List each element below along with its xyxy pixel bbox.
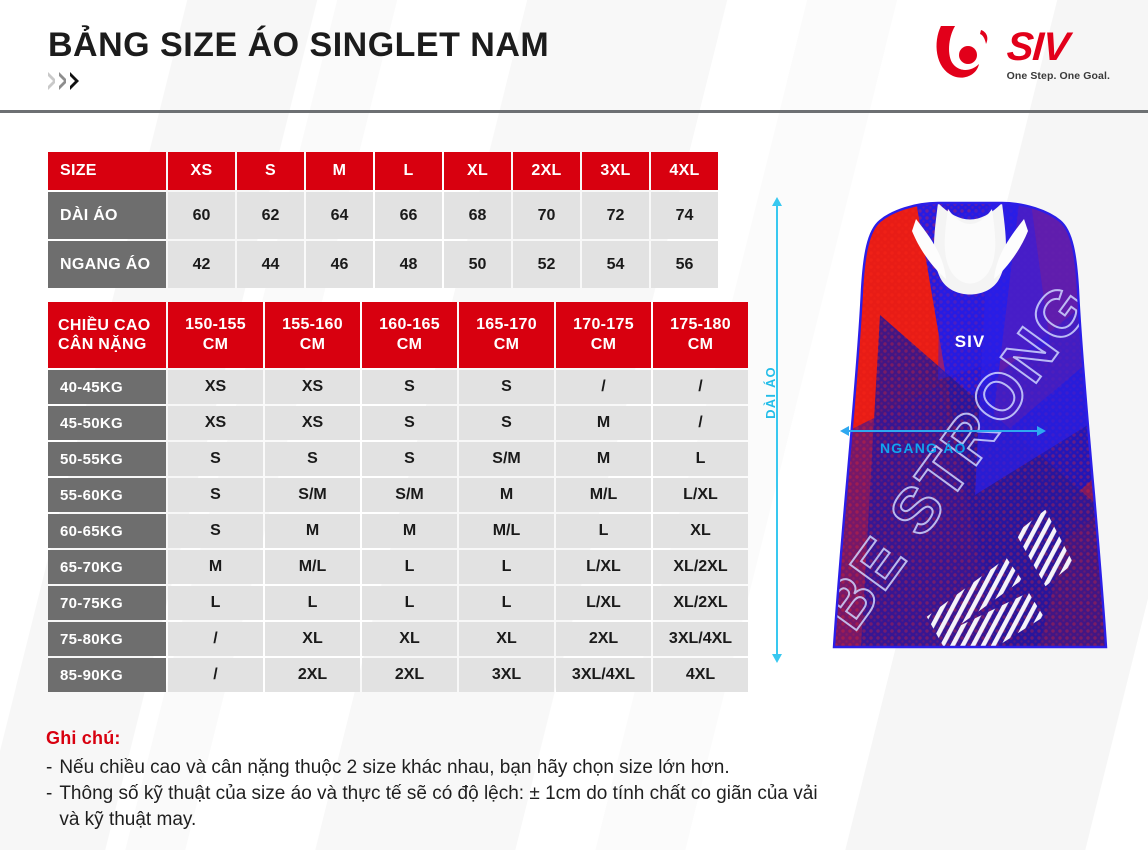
table-row: NGANG ÁO 42 44 46 48 50 52 54 56 xyxy=(48,241,718,288)
table2-header-175-180: 175-180 CM xyxy=(653,302,748,368)
table-row: 65-70KGMM/LLLL/XLXL/2XL xyxy=(48,550,748,584)
length-dimension-label: DÀI ÁO xyxy=(763,366,778,419)
cell: XL xyxy=(362,622,457,656)
table1-header-size: SIZE xyxy=(48,152,166,190)
shirt-illustration-area: DÀI ÁO xyxy=(760,185,1140,685)
table2-header-165-170: 165-170 CM xyxy=(459,302,554,368)
cell: / xyxy=(168,622,263,656)
shirt-chest-logo: SIV xyxy=(955,332,985,351)
table-row: 75-80KG/XLXLXL2XL3XL/4XL xyxy=(48,622,748,656)
row-label-55-60kg: 55-60KG xyxy=(48,478,166,512)
header-unit: CM xyxy=(168,335,263,355)
cell: / xyxy=(168,658,263,692)
notes-section: Ghi chú: - Nếu chiều cao và cân nặng thu… xyxy=(46,728,836,833)
cell: M/L xyxy=(556,478,651,512)
width-dimension-label: NGANG ÁO xyxy=(880,440,967,456)
cell: 56 xyxy=(651,241,718,288)
table-row: 70-75KGLLLLL/XLXL/2XL xyxy=(48,586,748,620)
cell: M xyxy=(459,478,554,512)
chevron-arrows-decoration xyxy=(48,72,79,90)
table1-header-m: M xyxy=(306,152,373,190)
header-unit: CM xyxy=(556,335,651,355)
size-chart-page: BẢNG SIZE ÁO SINGLET NAM SIV One Step. O… xyxy=(0,0,1148,850)
header-divider xyxy=(0,110,1148,113)
row-label-dai-ao: DÀI ÁO xyxy=(48,192,166,239)
cell: S xyxy=(459,370,554,404)
table2-header-160-165: 160-165 CM xyxy=(362,302,457,368)
header-unit: CM xyxy=(653,335,748,355)
table1-header-xl: XL xyxy=(444,152,511,190)
table1-header-xs: XS xyxy=(168,152,235,190)
cell: XS xyxy=(168,406,263,440)
cell: 62 xyxy=(237,192,304,239)
cell: / xyxy=(556,370,651,404)
cell: S xyxy=(168,514,263,548)
length-dimension-line xyxy=(776,205,778,655)
cell: S xyxy=(459,406,554,440)
table1-header-3xl: 3XL xyxy=(582,152,649,190)
notes-title: Ghi chú: xyxy=(46,728,836,749)
cell: XL xyxy=(459,622,554,656)
cell: 52 xyxy=(513,241,580,288)
row-label-50-55kg: 50-55KG xyxy=(48,442,166,476)
note-text: Thông số kỹ thuật của size áo và thực tế… xyxy=(59,781,836,833)
logo-wordmark: SIV xyxy=(1005,26,1069,68)
cell: 2XL xyxy=(265,658,360,692)
cell: 74 xyxy=(651,192,718,239)
table2-header-150-155: 150-155 CM xyxy=(168,302,263,368)
cell: S xyxy=(362,406,457,440)
cell: 54 xyxy=(582,241,649,288)
cell: 2XL xyxy=(556,622,651,656)
table-row: 55-60KGSS/MS/MMM/LL/XL xyxy=(48,478,748,512)
table1-header-s: S xyxy=(237,152,304,190)
row-label-ngang-ao: NGANG ÁO xyxy=(48,241,166,288)
header-range: 155-160 xyxy=(265,315,360,335)
note-line: - Nếu chiều cao và cân nặng thuộc 2 size… xyxy=(46,755,836,781)
cell: 3XL/4XL xyxy=(556,658,651,692)
cell: M xyxy=(168,550,263,584)
table-row: 45-50KGXSXSSSM/ xyxy=(48,406,748,440)
cell: XL/2XL xyxy=(653,586,748,620)
cell: S/M xyxy=(459,442,554,476)
table-header-row: SIZE XS S M L XL 2XL 3XL 4XL xyxy=(48,152,718,190)
cell: 42 xyxy=(168,241,235,288)
cell: 66 xyxy=(375,192,442,239)
cell: 3XL xyxy=(459,658,554,692)
cell: 46 xyxy=(306,241,373,288)
cell: 48 xyxy=(375,241,442,288)
cell: S xyxy=(362,370,457,404)
table1-header-2xl: 2XL xyxy=(513,152,580,190)
cell: L xyxy=(362,586,457,620)
cell: 50 xyxy=(444,241,511,288)
corner-line-1: CHIỀU CAO xyxy=(58,316,166,335)
siv-swoosh-icon xyxy=(931,22,997,84)
cell: L/XL xyxy=(556,586,651,620)
corner-line-2: CÂN NẶNG xyxy=(58,335,166,354)
cell: 70 xyxy=(513,192,580,239)
cell: 64 xyxy=(306,192,373,239)
cell: XS xyxy=(168,370,263,404)
row-label-85-90kg: 85-90KG xyxy=(48,658,166,692)
note-dash: - xyxy=(46,755,52,781)
table-row: 60-65KGSMMM/LLXL xyxy=(48,514,748,548)
measurements-table: SIZE XS S M L XL 2XL 3XL 4XL DÀI ÁO 60 6… xyxy=(46,150,720,290)
cell: XS xyxy=(265,370,360,404)
cell: 2XL xyxy=(362,658,457,692)
table2-header-155-160: 155-160 CM xyxy=(265,302,360,368)
note-line: - Thông số kỹ thuật của size áo và thực … xyxy=(46,781,836,833)
cell: L xyxy=(556,514,651,548)
cell: 44 xyxy=(237,241,304,288)
table-row: 85-90KG/2XL2XL3XL3XL/4XL4XL xyxy=(48,658,748,692)
cell: M xyxy=(362,514,457,548)
cell: L xyxy=(265,586,360,620)
cell: M xyxy=(265,514,360,548)
row-label-40-45kg: 40-45KG xyxy=(48,370,166,404)
table2-corner-header: CHIỀU CAO CÂN NẶNG xyxy=(48,302,166,368)
row-label-45-50kg: 45-50KG xyxy=(48,406,166,440)
cell: L xyxy=(459,586,554,620)
cell: 3XL/4XL xyxy=(653,622,748,656)
height-weight-size-table: CHIỀU CAO CÂN NẶNG 150-155 CM 155-160 CM… xyxy=(46,300,750,694)
note-dash: - xyxy=(46,781,52,807)
table1-header-l: L xyxy=(375,152,442,190)
table-header-row: CHIỀU CAO CÂN NẶNG 150-155 CM 155-160 CM… xyxy=(48,302,748,368)
header-range: 175-180 xyxy=(653,315,748,335)
cell: 72 xyxy=(582,192,649,239)
header-range: 165-170 xyxy=(459,315,554,335)
cell: S/M xyxy=(362,478,457,512)
cell: XL/2XL xyxy=(653,550,748,584)
cell: / xyxy=(653,406,748,440)
cell: S xyxy=(362,442,457,476)
cell: L xyxy=(653,442,748,476)
cell: S xyxy=(168,442,263,476)
cell: S xyxy=(265,442,360,476)
cell: L xyxy=(168,586,263,620)
cell: S/M xyxy=(265,478,360,512)
header-unit: CM xyxy=(459,335,554,355)
row-label-75-80kg: 75-80KG xyxy=(48,622,166,656)
table2-header-170-175: 170-175 CM xyxy=(556,302,651,368)
cell: XL xyxy=(265,622,360,656)
logo-tagline: One Step. One Goal. xyxy=(1007,70,1110,82)
cell: M/L xyxy=(265,550,360,584)
chevron-right-icon xyxy=(70,72,79,90)
cell: M/L xyxy=(459,514,554,548)
cell: L/XL xyxy=(556,550,651,584)
table-row: 50-55KGSSSS/MML xyxy=(48,442,748,476)
header-unit: CM xyxy=(265,335,360,355)
page-title: BẢNG SIZE ÁO SINGLET NAM xyxy=(48,26,549,65)
cell: L xyxy=(362,550,457,584)
width-dimension-line xyxy=(848,430,1038,432)
cell: XL xyxy=(653,514,748,548)
row-label-65-70kg: 65-70KG xyxy=(48,550,166,584)
cell: L xyxy=(459,550,554,584)
table1-header-4xl: 4XL xyxy=(651,152,718,190)
cell: M xyxy=(556,406,651,440)
table-row: DÀI ÁO 60 62 64 66 68 70 72 74 xyxy=(48,192,718,239)
row-label-60-65kg: 60-65KG xyxy=(48,514,166,548)
cell: 4XL xyxy=(653,658,748,692)
row-label-70-75kg: 70-75KG xyxy=(48,586,166,620)
cell: XS xyxy=(265,406,360,440)
header-unit: CM xyxy=(362,335,457,355)
brand-logo: SIV One Step. One Goal. xyxy=(931,22,1110,84)
cell: L/XL xyxy=(653,478,748,512)
page-header: BẢNG SIZE ÁO SINGLET NAM SIV One Step. O… xyxy=(0,0,1148,112)
cell: 68 xyxy=(444,192,511,239)
note-text: Nếu chiều cao và cân nặng thuộc 2 size k… xyxy=(59,755,836,781)
cell: S xyxy=(168,478,263,512)
cell: 60 xyxy=(168,192,235,239)
header-range: 150-155 xyxy=(168,315,263,335)
table-row: 40-45KGXSXSSS// xyxy=(48,370,748,404)
header-range: 160-165 xyxy=(362,315,457,335)
cell: / xyxy=(653,370,748,404)
cell: M xyxy=(556,442,651,476)
header-range: 170-175 xyxy=(556,315,651,335)
